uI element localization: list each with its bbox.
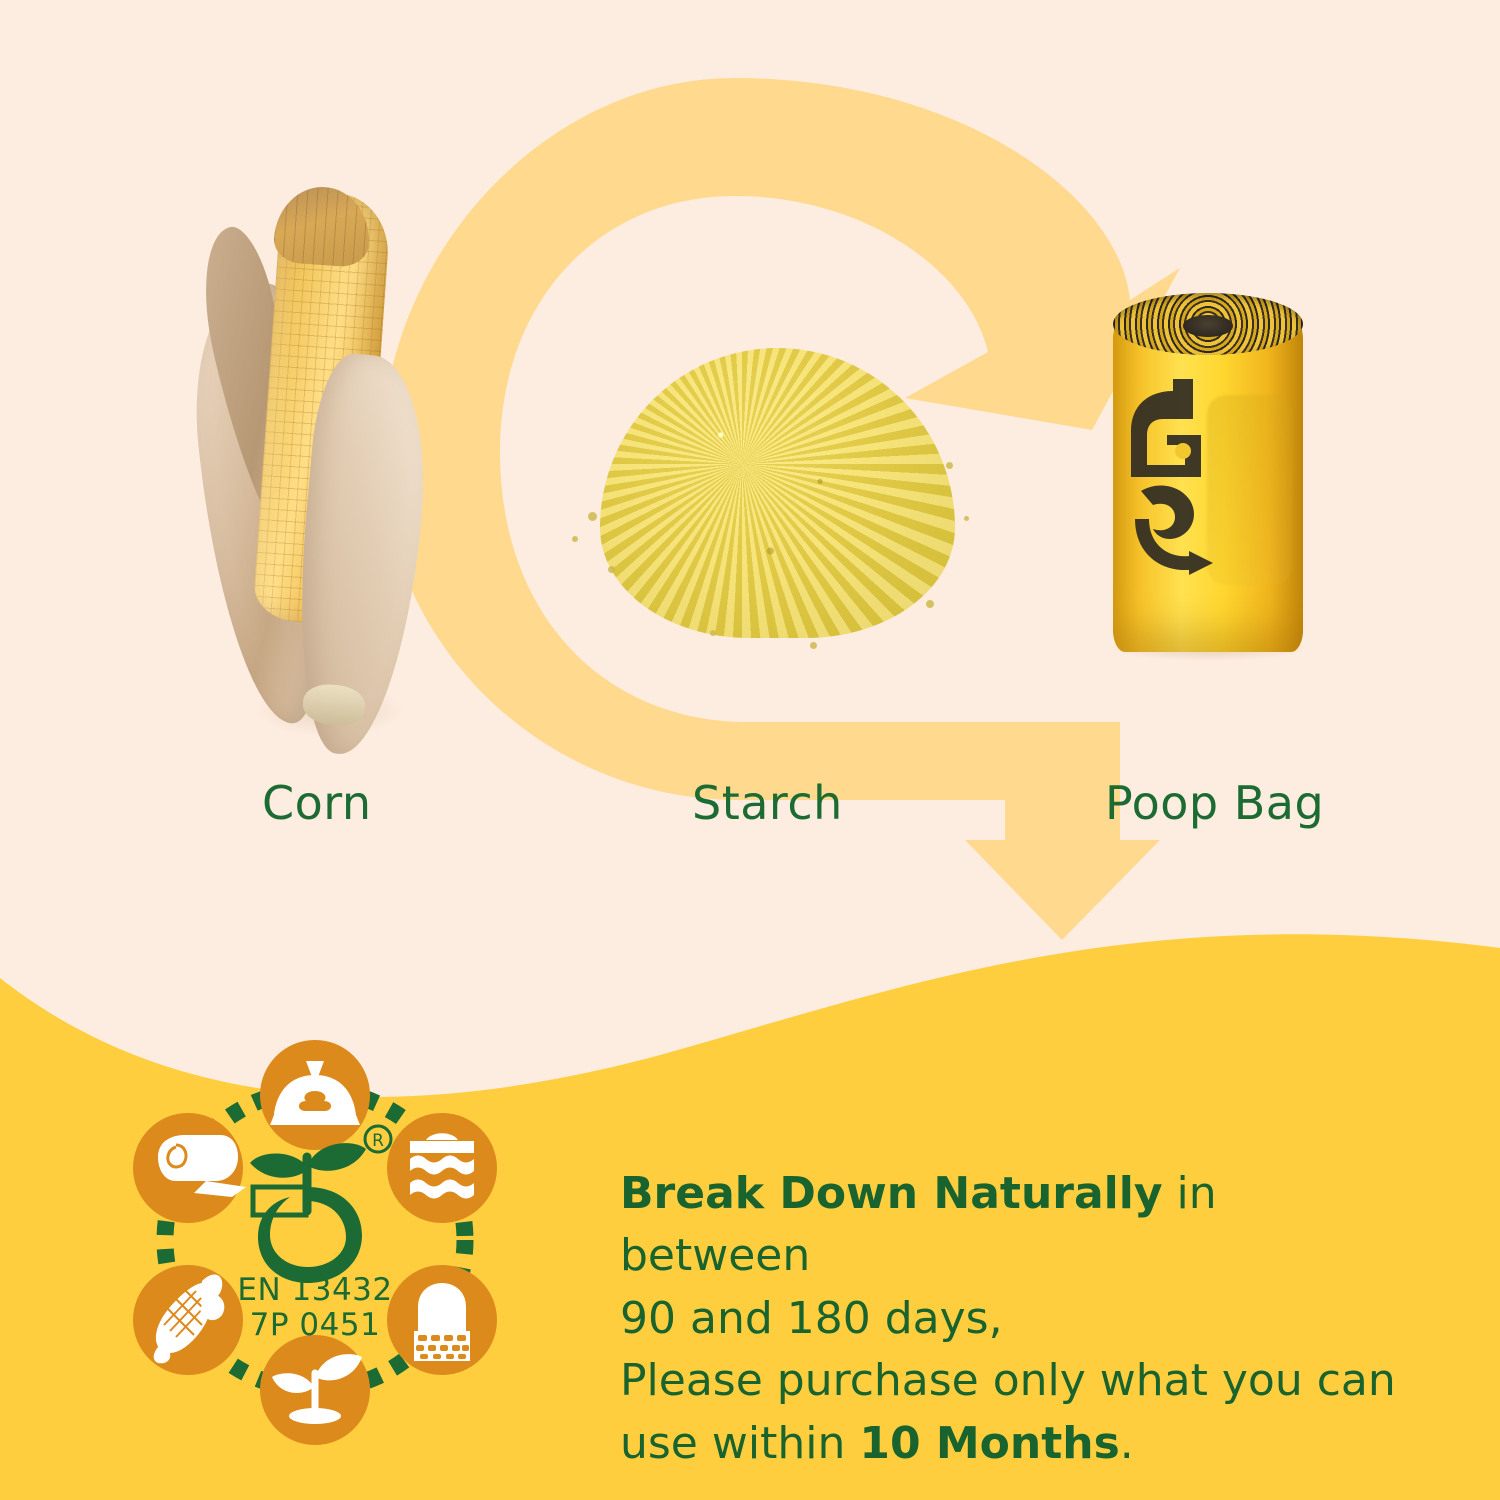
starch-speck <box>710 630 716 636</box>
starch-speck <box>926 600 934 608</box>
ring-icon-compost-soil-layers <box>387 1113 497 1223</box>
roll-printed-text-faint <box>1207 395 1293 585</box>
step-label-corn: Corn <box>262 776 372 830</box>
infographic-canvas: Corn Starch Poop Bag <box>0 0 1500 1500</box>
ring-icon-bag-roll <box>133 1113 246 1223</box>
registered-mark-icon: R <box>365 1126 391 1152</box>
message-line-2: 90 and 180 days, <box>620 1288 1420 1350</box>
starch-speck <box>964 516 969 521</box>
starch-speck <box>810 642 817 649</box>
certification-code: 7P 0451 <box>110 1308 520 1343</box>
starch-powder-pile <box>600 348 955 638</box>
starch-speck <box>946 462 953 469</box>
roll-brand-logo-icon <box>1123 373 1215 581</box>
svg-text:R: R <box>372 1131 384 1151</box>
ring-icon-filled-poop-bag <box>260 1040 370 1150</box>
badge-graphic: R <box>110 1035 520 1445</box>
compostable-certification-badge: R EN 13432 7P 0451 <box>110 1035 520 1445</box>
breakdown-message: Break Down Naturally in between 90 and 1… <box>620 1163 1420 1475</box>
starch-speck <box>608 566 615 573</box>
step-label-starch: Starch <box>692 776 843 830</box>
message-line-4-prefix: use within <box>620 1418 859 1469</box>
message-line-4: use within 10 Months. <box>620 1413 1420 1475</box>
message-line-4-suffix: . <box>1120 1418 1134 1469</box>
starch-speck <box>572 536 578 542</box>
corn-image <box>195 165 430 750</box>
message-line-3: Please purchase only what you can <box>620 1350 1420 1412</box>
starch-speck <box>588 512 597 521</box>
step-label-bag: Poop Bag <box>1105 776 1324 830</box>
ring-icon-sprout-seedling <box>260 1335 370 1445</box>
certification-text: EN 13432 7P 0451 <box>110 1273 520 1342</box>
corn-cob-tip <box>272 184 372 268</box>
poop-bag-roll-image <box>1095 275 1320 670</box>
message-line-4-bold: 10 Months <box>859 1418 1119 1469</box>
message-line-1-bold: Break Down Naturally <box>620 1168 1163 1219</box>
starch-image <box>560 330 990 660</box>
certification-standard: EN 13432 <box>110 1273 520 1308</box>
roll-core-hole <box>1183 315 1233 337</box>
message-line-1: Break Down Naturally in between <box>620 1163 1420 1288</box>
